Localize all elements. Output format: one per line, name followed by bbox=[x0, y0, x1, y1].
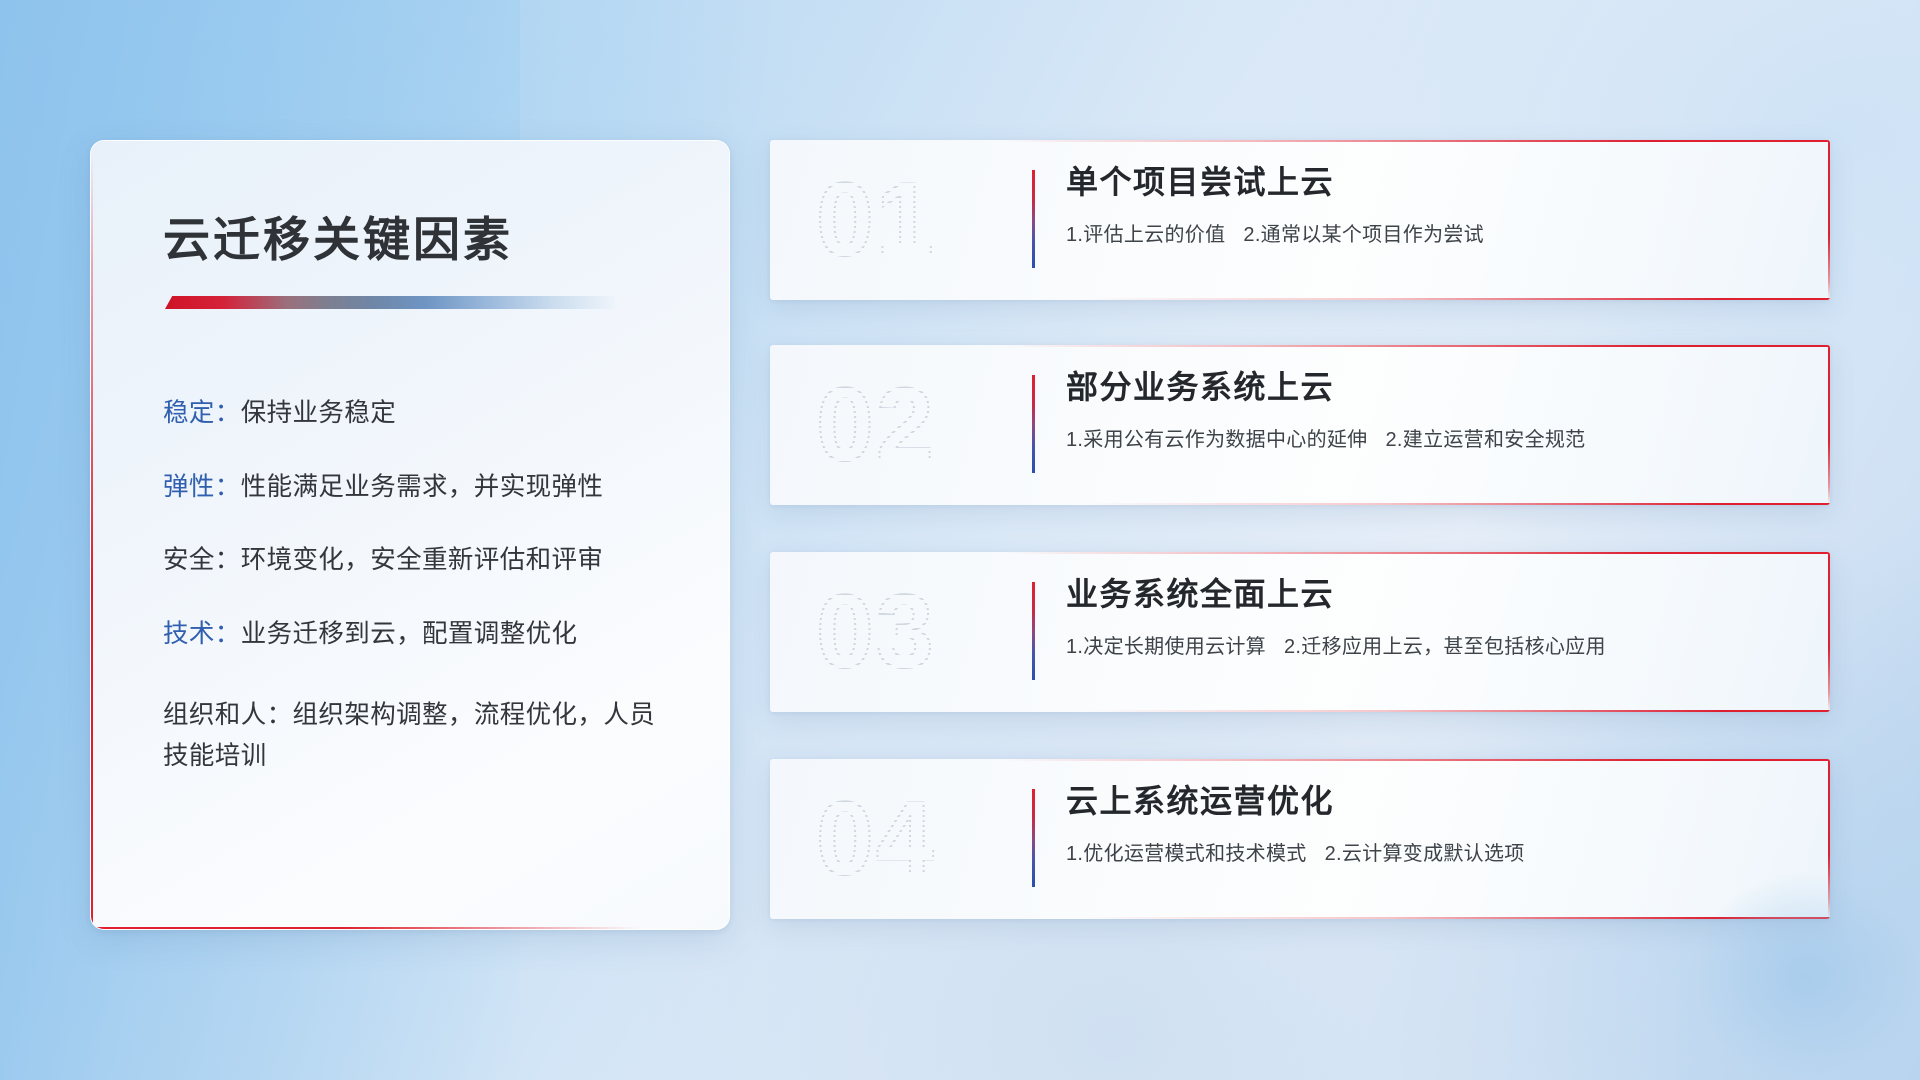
step-card-03[interactable]: 03 业务系统全面上云 1.决定长期使用云计算2.迁移应用上云，甚至包括核心应用 bbox=[770, 552, 1830, 712]
step-number-text: 01 bbox=[816, 162, 936, 278]
step-point-2: 2.通常以某个项目作为尝试 bbox=[1243, 224, 1484, 246]
step-point-1: 1.评估上云的价值 bbox=[1066, 224, 1225, 246]
step-number-text: 02 bbox=[816, 367, 936, 483]
step-title: 业务系统全面上云 bbox=[1066, 574, 1800, 616]
list-item-value: 保持业务稳定 bbox=[241, 399, 396, 427]
step-number-watermark: 02 bbox=[816, 361, 1016, 489]
card-bottom-accent-bar bbox=[1088, 503, 1830, 505]
step-card-02[interactable]: 02 部分业务系统上云 1.采用公有云作为数据中心的延伸2.建立运营和安全规范 bbox=[770, 345, 1830, 505]
step-divider-bar bbox=[1032, 582, 1035, 680]
step-content: 部分业务系统上云 1.采用公有云作为数据中心的延伸2.建立运营和安全规范 bbox=[1066, 367, 1800, 452]
list-item-key: 技术： bbox=[163, 620, 241, 648]
card-top-accent-bar bbox=[1003, 345, 1830, 347]
card-top-accent-bar bbox=[1003, 759, 1830, 761]
step-title: 部分业务系统上云 bbox=[1066, 367, 1800, 409]
step-title: 单个项目尝试上云 bbox=[1066, 162, 1800, 204]
step-number-watermark: 01 bbox=[816, 156, 1016, 284]
card-right-accent-bar bbox=[1828, 140, 1830, 300]
step-subtitle: 1.采用公有云作为数据中心的延伸2.建立运营和安全规范 bbox=[1066, 423, 1800, 452]
step-subtitle: 1.评估上云的价值2.通常以某个项目作为尝试 bbox=[1066, 218, 1800, 247]
title-underline-gradient bbox=[165, 296, 615, 309]
slide-canvas: 云迁移关键因素 稳定：保持业务稳定 弹性：性能满足业务需求，并实现弹性 安全：环… bbox=[0, 0, 1920, 1080]
list-item-value: 业务迁移到云，配置调整优化 bbox=[241, 620, 578, 648]
list-item: 技术：业务迁移到云，配置调整优化 bbox=[163, 622, 673, 648]
list-item: 组织和人：组织架构调整，流程优化，人员技能培训 bbox=[163, 695, 673, 778]
step-number-watermark: 03 bbox=[816, 568, 1016, 696]
step-divider-bar bbox=[1032, 375, 1035, 473]
step-subtitle: 1.优化运营模式和技术模式2.云计算变成默认选项 bbox=[1066, 837, 1800, 866]
card-right-accent-bar bbox=[1828, 345, 1830, 505]
panel-bottom-accent-bar bbox=[91, 927, 640, 929]
list-item: 安全：环境变化，安全重新评估和评审 bbox=[163, 548, 673, 574]
list-item-value: 性能满足业务需求，并实现弹性 bbox=[241, 473, 604, 501]
list-item-value: 环境变化，安全重新评估和评审 bbox=[241, 546, 604, 574]
step-content: 业务系统全面上云 1.决定长期使用云计算2.迁移应用上云，甚至包括核心应用 bbox=[1066, 574, 1800, 659]
card-top-accent-bar bbox=[1003, 552, 1830, 554]
step-point-1: 1.采用公有云作为数据中心的延伸 bbox=[1066, 429, 1367, 451]
card-bottom-accent-bar bbox=[1088, 917, 1830, 919]
list-item: 弹性：性能满足业务需求，并实现弹性 bbox=[163, 475, 673, 501]
step-card-04[interactable]: 04 云上系统运营优化 1.优化运营模式和技术模式2.云计算变成默认选项 bbox=[770, 759, 1830, 919]
card-bottom-accent-bar bbox=[1088, 298, 1830, 300]
step-title: 云上系统运营优化 bbox=[1066, 781, 1800, 823]
step-point-2: 2.迁移应用上云，甚至包括核心应用 bbox=[1284, 636, 1606, 658]
key-factors-list: 稳定：保持业务稳定 弹性：性能满足业务需求，并实现弹性 安全：环境变化，安全重新… bbox=[163, 401, 673, 778]
list-item-key: 安全： bbox=[163, 546, 241, 574]
step-card-01[interactable]: 01 单个项目尝试上云 1.评估上云的价值2.通常以某个项目作为尝试 bbox=[770, 140, 1830, 300]
card-bottom-accent-bar bbox=[1088, 710, 1830, 712]
step-point-2: 2.云计算变成默认选项 bbox=[1325, 843, 1525, 865]
step-point-1: 1.决定长期使用云计算 bbox=[1066, 636, 1266, 658]
list-item-key: 弹性： bbox=[163, 473, 241, 501]
page-title: 云迁移关键因素 bbox=[163, 201, 729, 270]
list-item-key: 组织和人： bbox=[163, 701, 293, 729]
step-number-text: 03 bbox=[816, 574, 936, 690]
step-subtitle: 1.决定长期使用云计算2.迁移应用上云，甚至包括核心应用 bbox=[1066, 630, 1800, 659]
list-item: 稳定：保持业务稳定 bbox=[163, 401, 673, 427]
step-point-1: 1.优化运营模式和技术模式 bbox=[1066, 843, 1307, 865]
step-divider-bar bbox=[1032, 170, 1035, 268]
list-item-key: 稳定： bbox=[163, 399, 241, 427]
step-number-text: 04 bbox=[816, 781, 936, 897]
card-right-accent-bar bbox=[1828, 759, 1830, 919]
step-number-watermark: 04 bbox=[816, 775, 1016, 903]
step-divider-bar bbox=[1032, 789, 1035, 887]
step-content: 云上系统运营优化 1.优化运营模式和技术模式2.云计算变成默认选项 bbox=[1066, 781, 1800, 866]
key-factors-panel: 云迁移关键因素 稳定：保持业务稳定 弹性：性能满足业务需求，并实现弹性 安全：环… bbox=[90, 140, 730, 930]
panel-left-accent-bar bbox=[91, 153, 93, 929]
card-right-accent-bar bbox=[1828, 552, 1830, 712]
step-point-2: 2.建立运营和安全规范 bbox=[1385, 429, 1585, 451]
step-content: 单个项目尝试上云 1.评估上云的价值2.通常以某个项目作为尝试 bbox=[1066, 162, 1800, 247]
card-top-accent-bar bbox=[1003, 140, 1830, 142]
